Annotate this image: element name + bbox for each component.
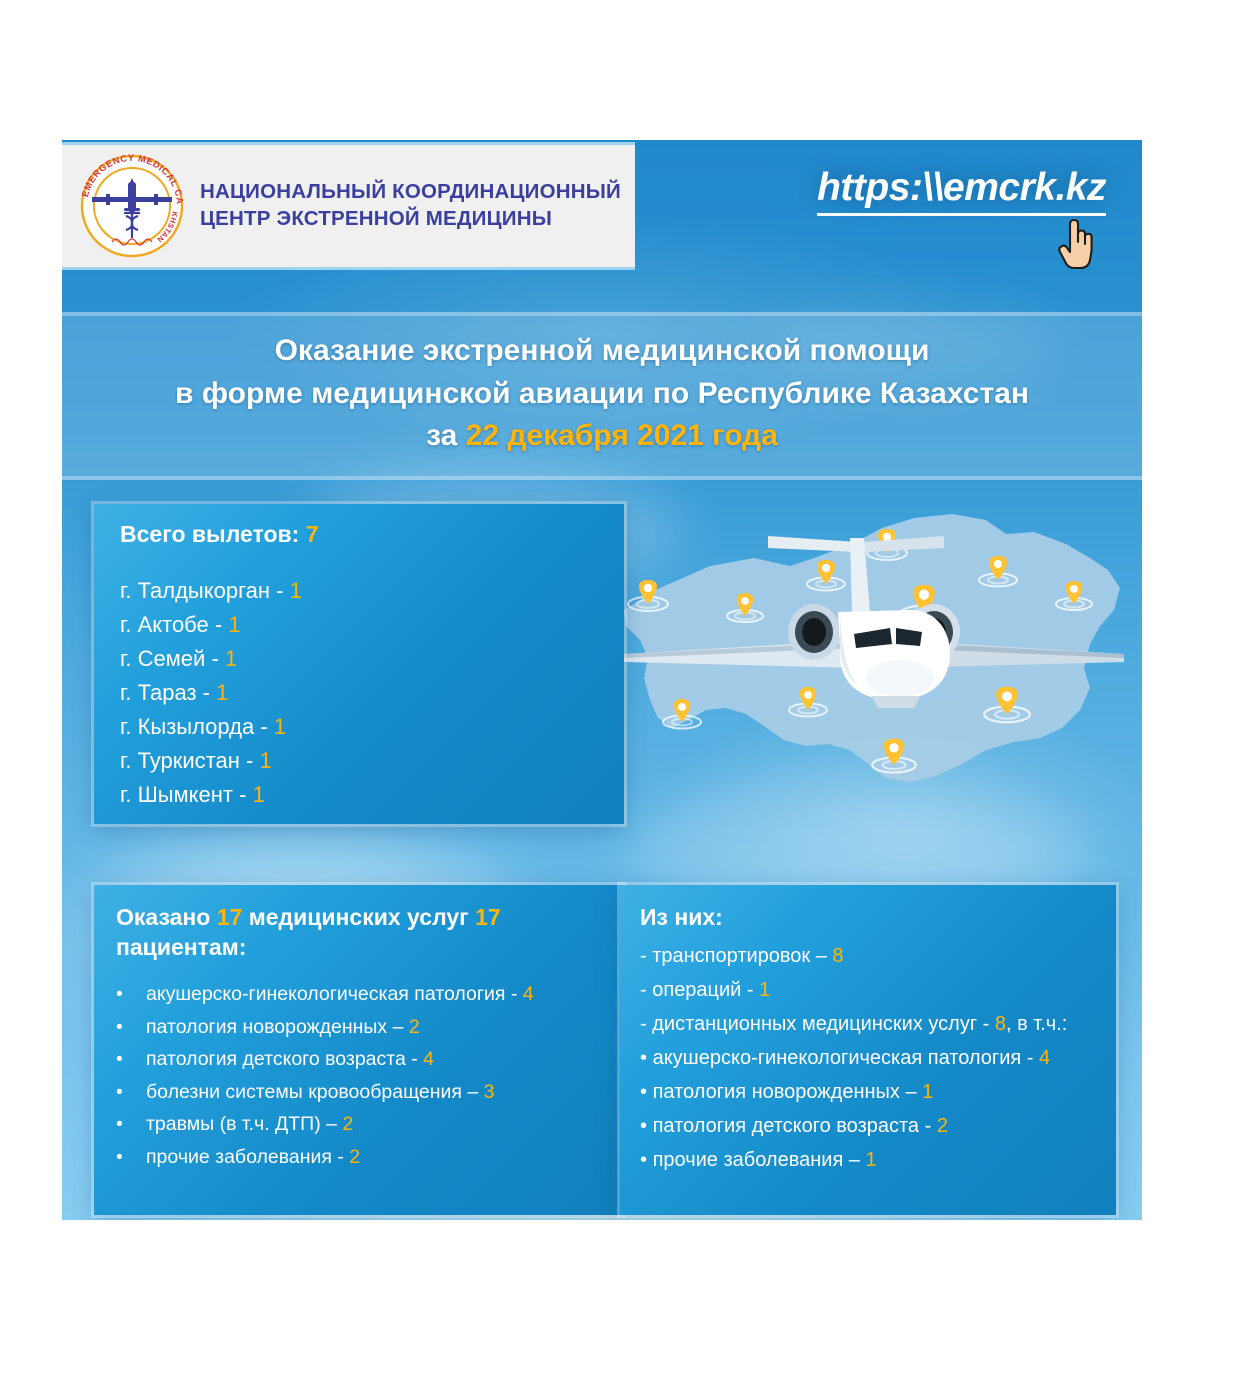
services-heading-prefix: Оказано xyxy=(116,904,217,930)
organization-logo-banner: EMERGENCY MEDICAL CARE OF KAZA KHSTAN xyxy=(62,142,635,270)
service-label: акушерско-гинекологическая патология - xyxy=(146,983,523,1005)
item-marker: • xyxy=(640,1115,647,1137)
service-label: травмы (в т.ч. ДТП) – xyxy=(146,1113,342,1135)
organization-name-line2: ЦЕНТР ЭКСТРЕННОЙ МЕДИЦИНЫ xyxy=(200,206,621,233)
flight-city-list: г. Талдыкорган - 1 г. Актобе - 1 г. Семе… xyxy=(120,574,598,812)
city-name: г. Шымкент - xyxy=(120,782,246,807)
city-name: г. Кызылорда - xyxy=(120,714,268,739)
list-item: г. Талдыкорган - 1 xyxy=(120,574,598,608)
list-item: • акушерско-гинекологическая патология -… xyxy=(640,1041,1096,1075)
item-value: 8 xyxy=(995,1013,1006,1035)
list-item: - дистанционных медицинских услуг - 8, в… xyxy=(640,1007,1096,1041)
item-label: акушерско-гинекологическая патология - xyxy=(653,1047,1039,1069)
list-item: г. Кызылорда - 1 xyxy=(120,710,598,744)
list-item: - транспортировок – 8 xyxy=(640,939,1096,973)
item-value: 8 xyxy=(832,945,843,967)
item-value: 4 xyxy=(1039,1047,1050,1069)
item-marker: • xyxy=(640,1081,647,1103)
bullet-icon: • xyxy=(116,1148,146,1168)
list-item: • патология новорожденных – 2 xyxy=(116,1011,602,1044)
item-value: 1 xyxy=(759,979,770,1001)
services-heading-middle: медицинских услуг xyxy=(242,904,475,930)
item-label: прочие заболевания – xyxy=(653,1149,866,1171)
item-value: 2 xyxy=(937,1115,948,1137)
pointing-hand-cursor-icon xyxy=(1052,218,1098,274)
item-value: 1 xyxy=(922,1081,933,1103)
list-item: • патология детского возраста - 2 xyxy=(640,1109,1096,1143)
website-url[interactable]: https:\\emcrk.kz xyxy=(817,166,1106,216)
services-count: 17 xyxy=(217,904,243,930)
patients-count: 17 xyxy=(475,904,501,930)
item-label: транспортировок – xyxy=(652,945,832,967)
medical-services-card: Оказано 17 медицинских услуг 17 пациента… xyxy=(94,885,624,1215)
item-marker: - xyxy=(640,979,647,1001)
service-label: болезни системы кровообращения – xyxy=(146,1081,484,1103)
service-value: 2 xyxy=(349,1146,360,1168)
report-date: 22 декабря 2021 года xyxy=(466,419,778,452)
organization-name: НАЦИОНАЛЬНЫЙ КООРДИНАЦИОННЫЙ ЦЕНТР ЭКСТР… xyxy=(200,179,621,232)
item-label: операций - xyxy=(652,979,759,1001)
bullet-icon: • xyxy=(116,1018,146,1038)
city-name: г. Семей - xyxy=(120,646,219,671)
list-item: г. Туркистан - 1 xyxy=(120,744,598,778)
total-flights-heading: Всего вылетов: 7 xyxy=(120,520,598,550)
city-count: 1 xyxy=(259,748,271,773)
breakdown-card: Из них: - транспортировок – 8 - операций… xyxy=(620,885,1116,1215)
website-link-group[interactable]: https:\\emcrk.kz xyxy=(817,166,1106,216)
service-label: патология новорожденных – xyxy=(146,1016,409,1038)
organization-name-line1: НАЦИОНАЛЬНЫЙ КООРДИНАЦИОННЫЙ xyxy=(200,179,621,206)
kazakhstan-map-with-aircraft-graphic xyxy=(614,492,1134,832)
city-name: г. Тараз - xyxy=(120,680,210,705)
list-item: - операций - 1 xyxy=(640,973,1096,1007)
title-date-prefix: за xyxy=(426,419,466,452)
services-heading-line2: пациентам: xyxy=(116,933,602,963)
list-item: • болезни системы кровообращения – 3 xyxy=(116,1076,602,1109)
item-marker: • xyxy=(640,1047,647,1069)
service-label: прочие заболевания - xyxy=(146,1146,349,1168)
item-label: дистанционных медицинских услуг - xyxy=(652,1013,995,1035)
title-line-3: за 22 декабря 2021 года xyxy=(92,415,1112,458)
bullet-icon: • xyxy=(116,985,146,1005)
infographic-poster: EMERGENCY MEDICAL CARE OF KAZA KHSTAN xyxy=(62,140,1142,1220)
total-flights-label: Всего вылетов: xyxy=(120,521,299,547)
poster-title-bar: Оказание экстренной медицинской помощи в… xyxy=(62,312,1142,480)
list-item: • прочие заболевания – 1 xyxy=(640,1143,1096,1177)
service-value: 4 xyxy=(423,1048,434,1070)
list-item: г. Тараз - 1 xyxy=(120,676,598,710)
city-count: 1 xyxy=(228,612,240,637)
emergency-medical-care-emblem-icon: EMERGENCY MEDICAL CARE OF KAZA KHSTAN xyxy=(76,150,188,262)
item-value: 1 xyxy=(866,1149,877,1171)
city-name: г. Талдыкорган - xyxy=(120,578,283,603)
city-count: 1 xyxy=(216,680,228,705)
service-value: 2 xyxy=(342,1113,353,1135)
bullet-icon: • xyxy=(116,1083,146,1103)
list-item: • патология новорожденных – 1 xyxy=(640,1075,1096,1109)
breakdown-item-list: - транспортировок – 8 - операций - 1 - д… xyxy=(640,939,1096,1177)
list-item: • акушерско-гинекологическая патология -… xyxy=(116,979,602,1012)
total-flights-value: 7 xyxy=(306,521,319,547)
poster-header: EMERGENCY MEDICAL CARE OF KAZA KHSTAN xyxy=(62,140,1142,284)
service-value: 2 xyxy=(409,1016,420,1038)
services-heading: Оказано 17 медицинских услуг 17 пациента… xyxy=(116,903,602,963)
item-label: патология новорожденных – xyxy=(653,1081,923,1103)
item-marker: • xyxy=(640,1149,647,1171)
title-line-2: в форме медицинской авиации по Республик… xyxy=(92,373,1112,416)
list-item: г. Шымкент - 1 xyxy=(120,778,598,812)
city-count: 1 xyxy=(290,578,302,603)
bullet-icon: • xyxy=(116,1050,146,1070)
item-marker: - xyxy=(640,945,647,967)
bullet-icon: • xyxy=(116,1115,146,1135)
list-item: • травмы (в т.ч. ДТП) – 2 xyxy=(116,1109,602,1142)
services-item-list: • акушерско-гинекологическая патология -… xyxy=(116,979,602,1174)
list-item: • патология детского возраста - 4 xyxy=(116,1044,602,1077)
city-count: 1 xyxy=(274,714,286,739)
service-value: 4 xyxy=(523,983,534,1005)
list-item: • прочие заболевания - 2 xyxy=(116,1141,602,1174)
total-flights-card: Всего вылетов: 7 г. Талдыкорган - 1 г. А… xyxy=(94,504,624,824)
title-line-1: Оказание экстренной медицинской помощи xyxy=(92,330,1112,373)
list-item: г. Семей - 1 xyxy=(120,642,598,676)
breakdown-heading: Из них: xyxy=(640,903,1096,933)
item-marker: - xyxy=(640,1013,647,1035)
city-count: 1 xyxy=(225,646,237,671)
list-item: г. Актобе - 1 xyxy=(120,608,598,642)
city-name: г. Туркистан - xyxy=(120,748,253,773)
item-label: патология детского возраста - xyxy=(653,1115,937,1137)
service-label: патология детского возраста - xyxy=(146,1048,423,1070)
item-suffix: , в т.ч.: xyxy=(1006,1013,1067,1035)
service-value: 3 xyxy=(484,1081,495,1103)
city-count: 1 xyxy=(253,782,265,807)
city-name: г. Актобе - xyxy=(120,612,222,637)
